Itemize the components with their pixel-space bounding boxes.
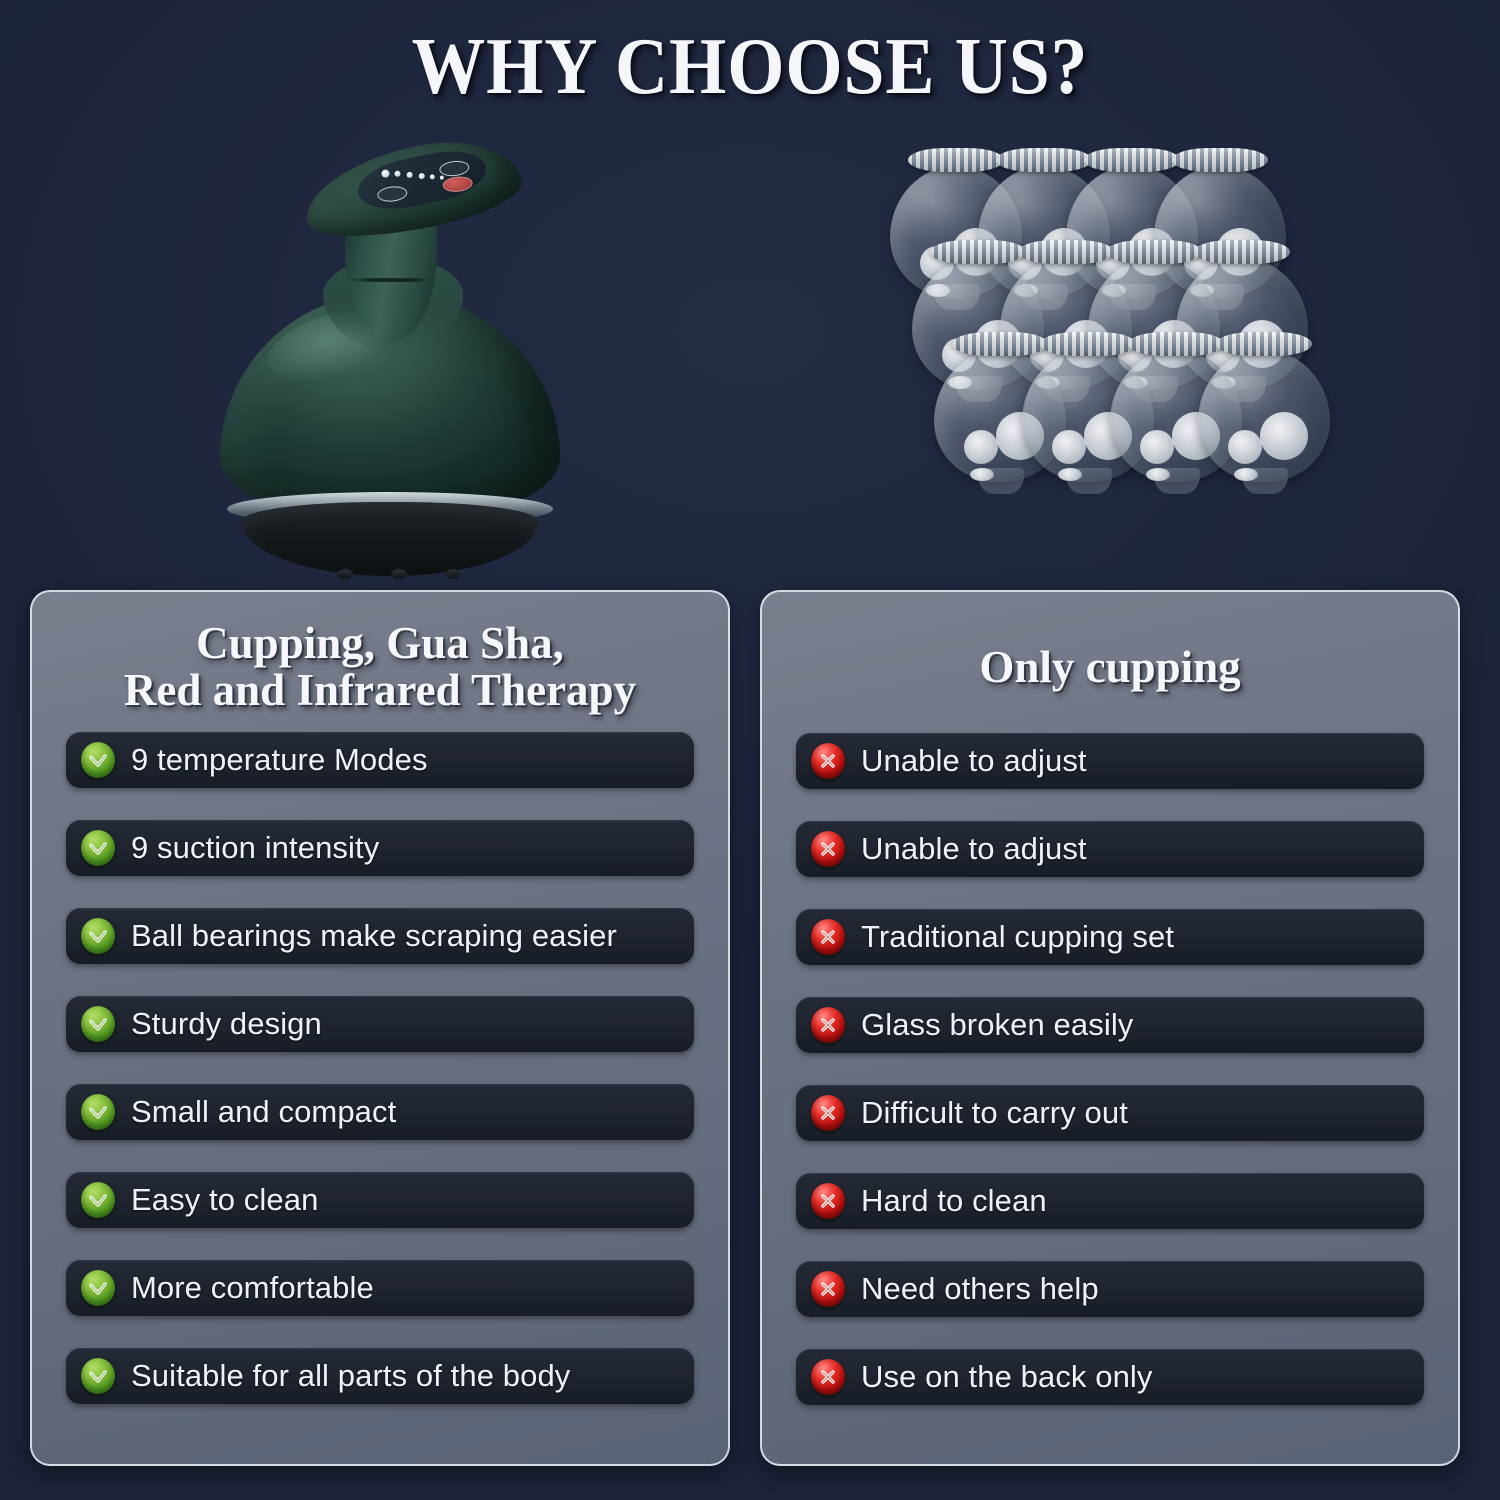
feature-list-product: 9 temperature Modes9 suction intensityBa…: [48, 732, 712, 1404]
feature-row-label: Easy to clean: [131, 1182, 318, 1218]
feature-row: 9 suction intensity: [66, 820, 694, 876]
check-icon: [81, 1182, 115, 1218]
cupping-jar-rim: [1216, 332, 1312, 356]
comparison-panel-competitor: Only cupping Unable to adjustUnable to a…: [760, 590, 1460, 1466]
feature-row: Hard to clean: [796, 1173, 1424, 1229]
feature-list-competitor: Unable to adjustUnable to adjustTraditio…: [778, 733, 1442, 1405]
cupping-jar-highlight: [1234, 468, 1258, 481]
hero-images: [0, 110, 1500, 580]
check-icon: [81, 1006, 115, 1042]
cross-icon: [811, 1007, 845, 1043]
feature-row: Unable to adjust: [796, 733, 1424, 789]
cross-icon: [811, 919, 845, 955]
check-icon: [81, 918, 115, 954]
led-dot: [430, 174, 435, 179]
feature-row: Need others help: [796, 1261, 1424, 1317]
panel-heading-product: Cupping, Gua Sha, Red and Infrared Thera…: [48, 592, 712, 714]
feature-row-label: More comfortable: [131, 1270, 374, 1306]
feature-row: Small and compact: [66, 1084, 694, 1140]
cross-icon: [811, 1359, 845, 1395]
cupping-jar-body: [1198, 350, 1330, 482]
check-icon: [81, 742, 115, 778]
massager-foot: [391, 569, 407, 579]
feature-row-label: 9 suction intensity: [131, 830, 379, 866]
cross-icon: [811, 743, 845, 779]
feature-row-label: Unable to adjust: [861, 743, 1087, 779]
cupping-jar-highlight: [1058, 468, 1082, 481]
led-dot: [381, 169, 390, 178]
cross-icon: [811, 1183, 845, 1219]
cupping-jar-rim: [1194, 240, 1290, 264]
feature-row: Easy to clean: [66, 1172, 694, 1228]
product-image-glass-cupping-set: [890, 148, 1350, 568]
led-dot: [406, 172, 412, 178]
feature-row: Unable to adjust: [796, 821, 1424, 877]
feature-row-label: Need others help: [861, 1271, 1099, 1307]
feature-row: Glass broken easily: [796, 997, 1424, 1053]
cupping-jar-highlight: [1140, 430, 1174, 464]
feature-row-label: Use on the back only: [861, 1359, 1153, 1395]
cross-icon: [811, 1271, 845, 1307]
cross-icon: [811, 831, 845, 867]
feature-row-label: Small and compact: [131, 1094, 396, 1130]
panel-heading-line2: Red and Infrared Therapy: [48, 667, 712, 714]
feature-row: Traditional cupping set: [796, 909, 1424, 965]
feature-row-label: Hard to clean: [861, 1183, 1047, 1219]
led-dot: [440, 176, 444, 180]
feature-row: 9 temperature Modes: [66, 732, 694, 788]
cupping-jar-highlight: [1260, 412, 1308, 460]
feature-row-label: Unable to adjust: [861, 831, 1087, 867]
feature-row-label: Sturdy design: [131, 1006, 322, 1042]
feature-row-label: 9 temperature Modes: [131, 742, 428, 778]
feature-row: Suitable for all parts of the body: [66, 1348, 694, 1404]
cupping-jar-highlight: [1146, 468, 1170, 481]
feature-row-label: Suitable for all parts of the body: [131, 1358, 570, 1394]
feature-row: Difficult to carry out: [796, 1085, 1424, 1141]
panel-heading-competitor: Only cupping: [778, 592, 1442, 691]
panel-heading-line1: Cupping, Gua Sha,: [196, 618, 564, 668]
panel-heading-line1: Only cupping: [979, 642, 1240, 692]
feature-row-label: Glass broken easily: [861, 1007, 1133, 1043]
product-image-electric-massager: [205, 130, 575, 560]
cupping-jar-highlight: [964, 430, 998, 464]
led-dot: [419, 173, 425, 179]
massager-foot: [337, 569, 353, 579]
led-dot: [394, 171, 400, 177]
massager-foot: [445, 569, 461, 579]
feature-row: Use on the back only: [796, 1349, 1424, 1405]
feature-row-label: Traditional cupping set: [861, 919, 1174, 955]
feature-row-label: Ball bearings make scraping easier: [131, 918, 617, 954]
cross-icon: [811, 1095, 845, 1131]
feature-row: Sturdy design: [66, 996, 694, 1052]
check-icon: [81, 1358, 115, 1394]
cupping-jar-rim: [1172, 148, 1268, 172]
feature-row: More comfortable: [66, 1260, 694, 1316]
feature-row-label: Difficult to carry out: [861, 1095, 1128, 1131]
cupping-jar-highlight: [1052, 430, 1086, 464]
cupping-jar-highlight: [970, 468, 994, 481]
check-icon: [81, 1270, 115, 1306]
massager-base: [241, 502, 539, 576]
mode-button: [377, 185, 408, 203]
power-button: [439, 160, 470, 178]
check-icon: [81, 830, 115, 866]
cupping-jar-highlight: [1228, 430, 1262, 464]
feature-row: Ball bearings make scraping easier: [66, 908, 694, 964]
check-icon: [81, 1094, 115, 1130]
cupping-jar: [1198, 332, 1330, 482]
page-title: WHY CHOOSE US?: [60, 22, 1440, 113]
comparison-panel-product: Cupping, Gua Sha, Red and Infrared Thera…: [30, 590, 730, 1466]
